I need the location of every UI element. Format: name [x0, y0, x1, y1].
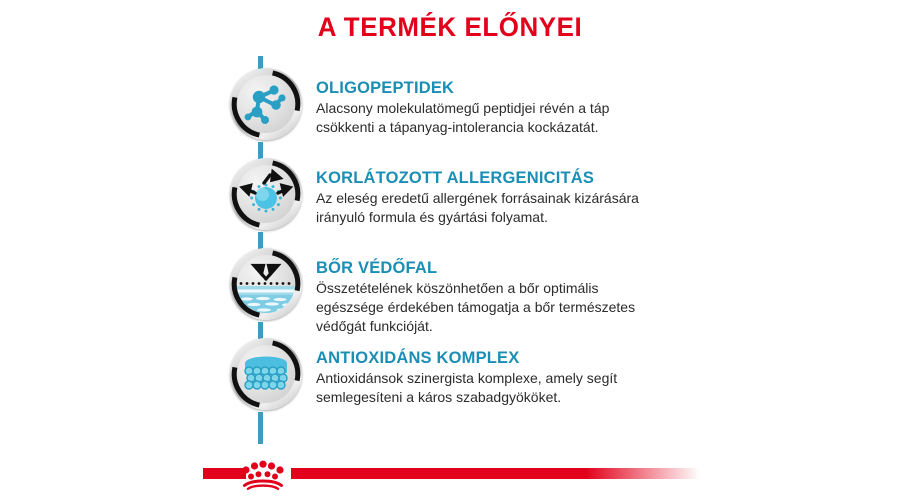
- page-title: A TERMÉK ELŐNYEI: [18, 12, 882, 43]
- benefit-text-cell: OLIGOPEPTIDEK Alacsony molekulatömegű pe…: [302, 68, 900, 137]
- cell-outward-arrows-icon: [230, 158, 302, 230]
- antioxidant-lattice-icon: [230, 338, 302, 410]
- benefit-body-line: Összetételének köszönhetően a bőr optimá…: [316, 279, 696, 298]
- benefit-item: ANTIOXIDÁNS KOMPLEX Antioxidánsok sziner…: [0, 338, 900, 428]
- benefit-body-line: egészsége érdekében támogatja a bőr term…: [316, 298, 696, 317]
- benefit-text-cell: BŐR VÉDŐFAL Összetételének köszönhetően …: [302, 248, 900, 336]
- benefit-text-cell: ANTIOXIDÁNS KOMPLEX Antioxidánsok sziner…: [302, 338, 900, 407]
- benefit-item: BŐR VÉDŐFAL Összetételének köszönhetően …: [0, 248, 900, 338]
- benefit-heading: ANTIOXIDÁNS KOMPLEX: [316, 348, 882, 367]
- benefit-body: Az eleség eredetű allergének forrásainak…: [316, 189, 696, 227]
- benefit-heading: BŐR VÉDŐFAL: [316, 258, 882, 277]
- benefit-body-line: semlegesíteni a káros szabadgyököket.: [316, 388, 696, 407]
- benefit-icon-cell: [0, 338, 302, 410]
- benefit-body-line: Az eleség eredetű allergének forrásainak…: [316, 189, 696, 208]
- benefit-heading: OLIGOPEPTIDEK: [316, 78, 882, 97]
- benefit-icon-cell: [0, 248, 302, 320]
- footer-bar-right: [291, 468, 700, 479]
- benefit-body-line: csökkenti a tápanyag-intolerancia kockáz…: [316, 118, 696, 137]
- benefit-body-line: irányuló formula és gyártási folyamat.: [316, 208, 696, 227]
- benefit-icon-cell: [0, 158, 302, 230]
- benefit-item: KORLÁTOZOTT ALLERGENICITÁS Az eleség ere…: [0, 158, 900, 248]
- benefits-list: OLIGOPEPTIDEK Alacsony molekulatömegű pe…: [0, 68, 900, 428]
- molecule-network-icon: [230, 68, 302, 140]
- benefit-icon-cell: [0, 68, 302, 140]
- royal-canin-crown-logo: [240, 456, 286, 490]
- benefit-body: Antioxidánsok szinergista komplexe, amel…: [316, 369, 696, 407]
- benefit-item: OLIGOPEPTIDEK Alacsony molekulatömegű pe…: [0, 68, 900, 158]
- benefit-body-line: védőgát funkcióját.: [316, 317, 696, 336]
- benefit-body: Összetételének köszönhetően a bőr optimá…: [316, 279, 696, 336]
- benefit-heading: KORLÁTOZOTT ALLERGENICITÁS: [316, 168, 882, 187]
- benefit-body-line: Alacsony molekulatömegű peptidjei révén …: [316, 99, 696, 118]
- benefit-text-cell: KORLÁTOZOTT ALLERGENICITÁS Az eleség ere…: [302, 158, 900, 227]
- skin-barrier-icon: [230, 248, 302, 320]
- benefit-body: Alacsony molekulatömegű peptidjei révén …: [316, 99, 696, 137]
- footer: [0, 448, 900, 500]
- benefit-body-line: Antioxidánsok szinergista komplexe, amel…: [316, 369, 696, 388]
